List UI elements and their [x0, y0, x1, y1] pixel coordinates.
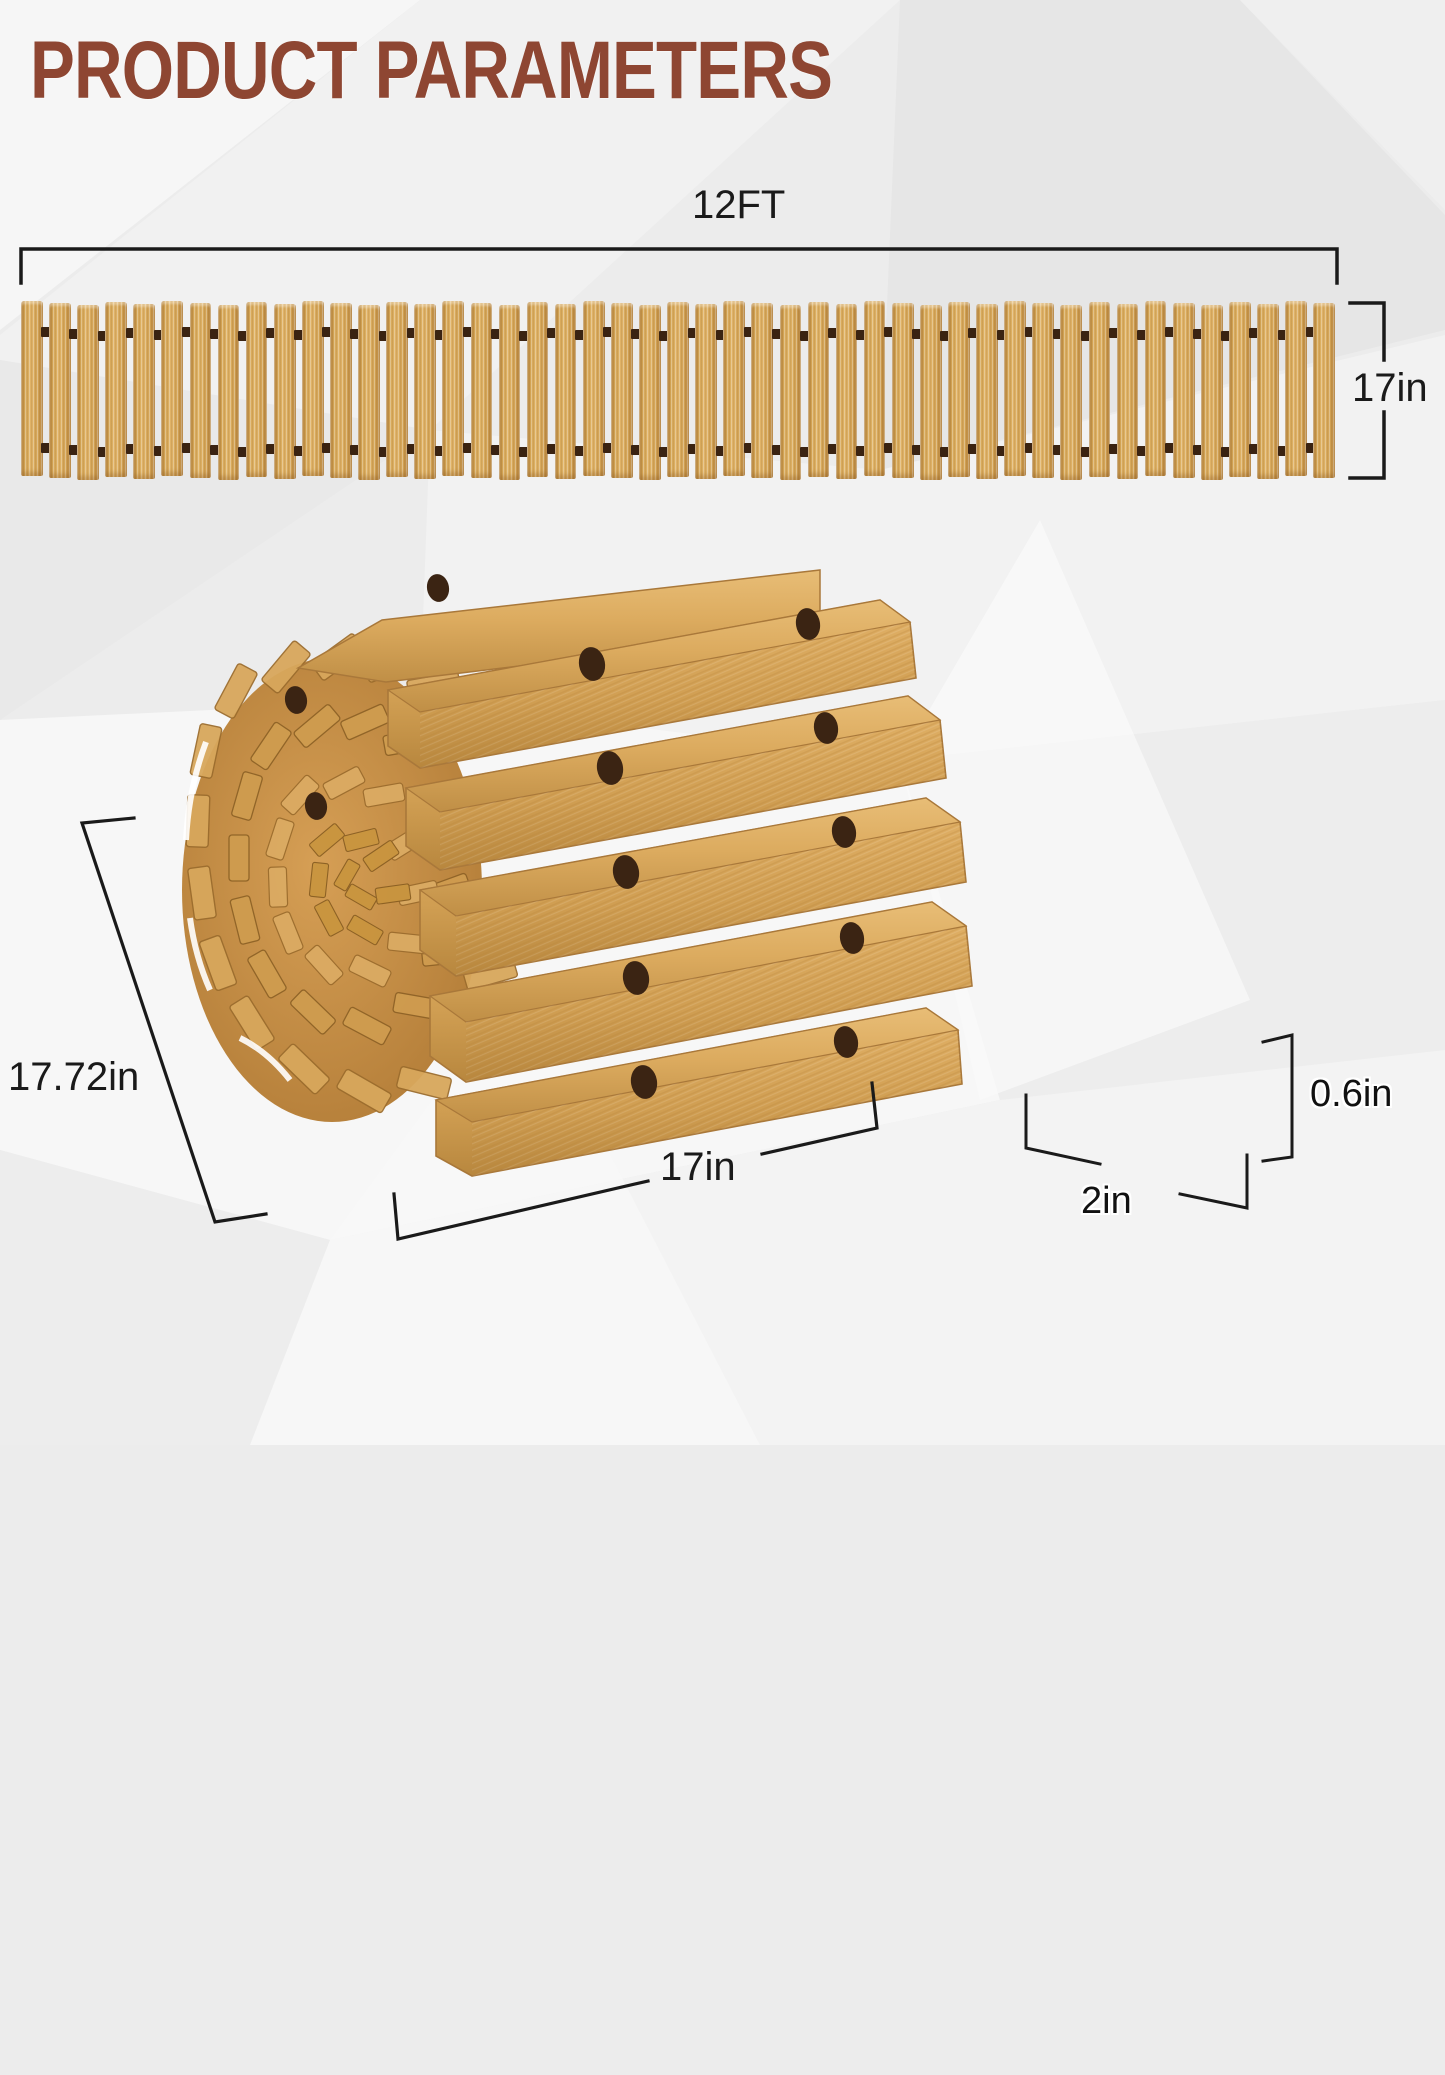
roll-slats	[388, 600, 972, 1176]
mat-slat	[836, 304, 858, 479]
mat-slat	[695, 304, 717, 479]
mat-slat	[780, 305, 802, 480]
mat-slat	[471, 303, 493, 478]
mat-slat	[723, 301, 745, 476]
detail-circle-wrapper	[955, 828, 1370, 1243]
mat-slat	[330, 303, 352, 478]
mat-slat	[864, 301, 886, 476]
mat-slat	[161, 301, 183, 476]
mat-slat	[948, 302, 970, 477]
mat-slat	[611, 303, 633, 478]
mat-slat	[21, 301, 43, 476]
mat-slat	[751, 303, 773, 478]
label-width-17in: 17in	[1352, 366, 1428, 411]
mat-slat	[1117, 304, 1139, 479]
mat-slat	[499, 305, 521, 480]
mat-slat	[442, 301, 464, 476]
label-roll-length-17in: 17in	[660, 1145, 736, 1190]
mat-slat	[583, 301, 605, 476]
mat-slat	[1060, 305, 1082, 480]
mat-slat	[105, 302, 127, 477]
mat-slat	[1173, 303, 1195, 478]
mat-slat	[77, 305, 99, 480]
mat-slat	[1285, 301, 1307, 476]
mat-slat	[133, 304, 155, 479]
mat-slat	[1201, 305, 1223, 480]
label-slat-thickness-0-6in: 0.6in	[1310, 1073, 1392, 1116]
rolled-mat-illustration	[120, 560, 920, 1200]
page-title: PRODUCT PARAMETERS	[30, 30, 832, 112]
mat-slat	[555, 304, 577, 479]
mat-slat	[386, 302, 408, 477]
mat-slat	[976, 304, 998, 479]
label-length-12ft: 12FT	[692, 183, 785, 228]
mat-slat	[414, 304, 436, 479]
mat-slat	[358, 305, 380, 480]
mat-slat	[302, 301, 324, 476]
mat-slat	[49, 303, 71, 478]
mat-slat	[667, 302, 689, 477]
mat-slat	[1145, 301, 1167, 476]
mat-slat	[246, 302, 268, 477]
label-roll-height-17-72in: 17.72in	[8, 1055, 139, 1100]
mat-slat	[1229, 302, 1251, 477]
mat-slat	[920, 305, 942, 480]
mat-slat	[1089, 302, 1111, 477]
mat-slat	[527, 302, 549, 477]
mat-slat	[190, 303, 212, 478]
label-slat-width-2in: 2in	[1081, 1180, 1132, 1223]
mat-slat	[808, 302, 830, 477]
mat-slat	[1004, 301, 1026, 476]
mat-slat	[639, 305, 661, 480]
mat-slat	[1257, 304, 1279, 479]
mat-slat	[1313, 303, 1335, 478]
mat-slat	[218, 305, 240, 480]
flat-mat-illustration	[21, 303, 1335, 478]
mat-slat	[274, 304, 296, 479]
mat-slat	[1032, 303, 1054, 478]
mat-slat	[892, 303, 914, 478]
